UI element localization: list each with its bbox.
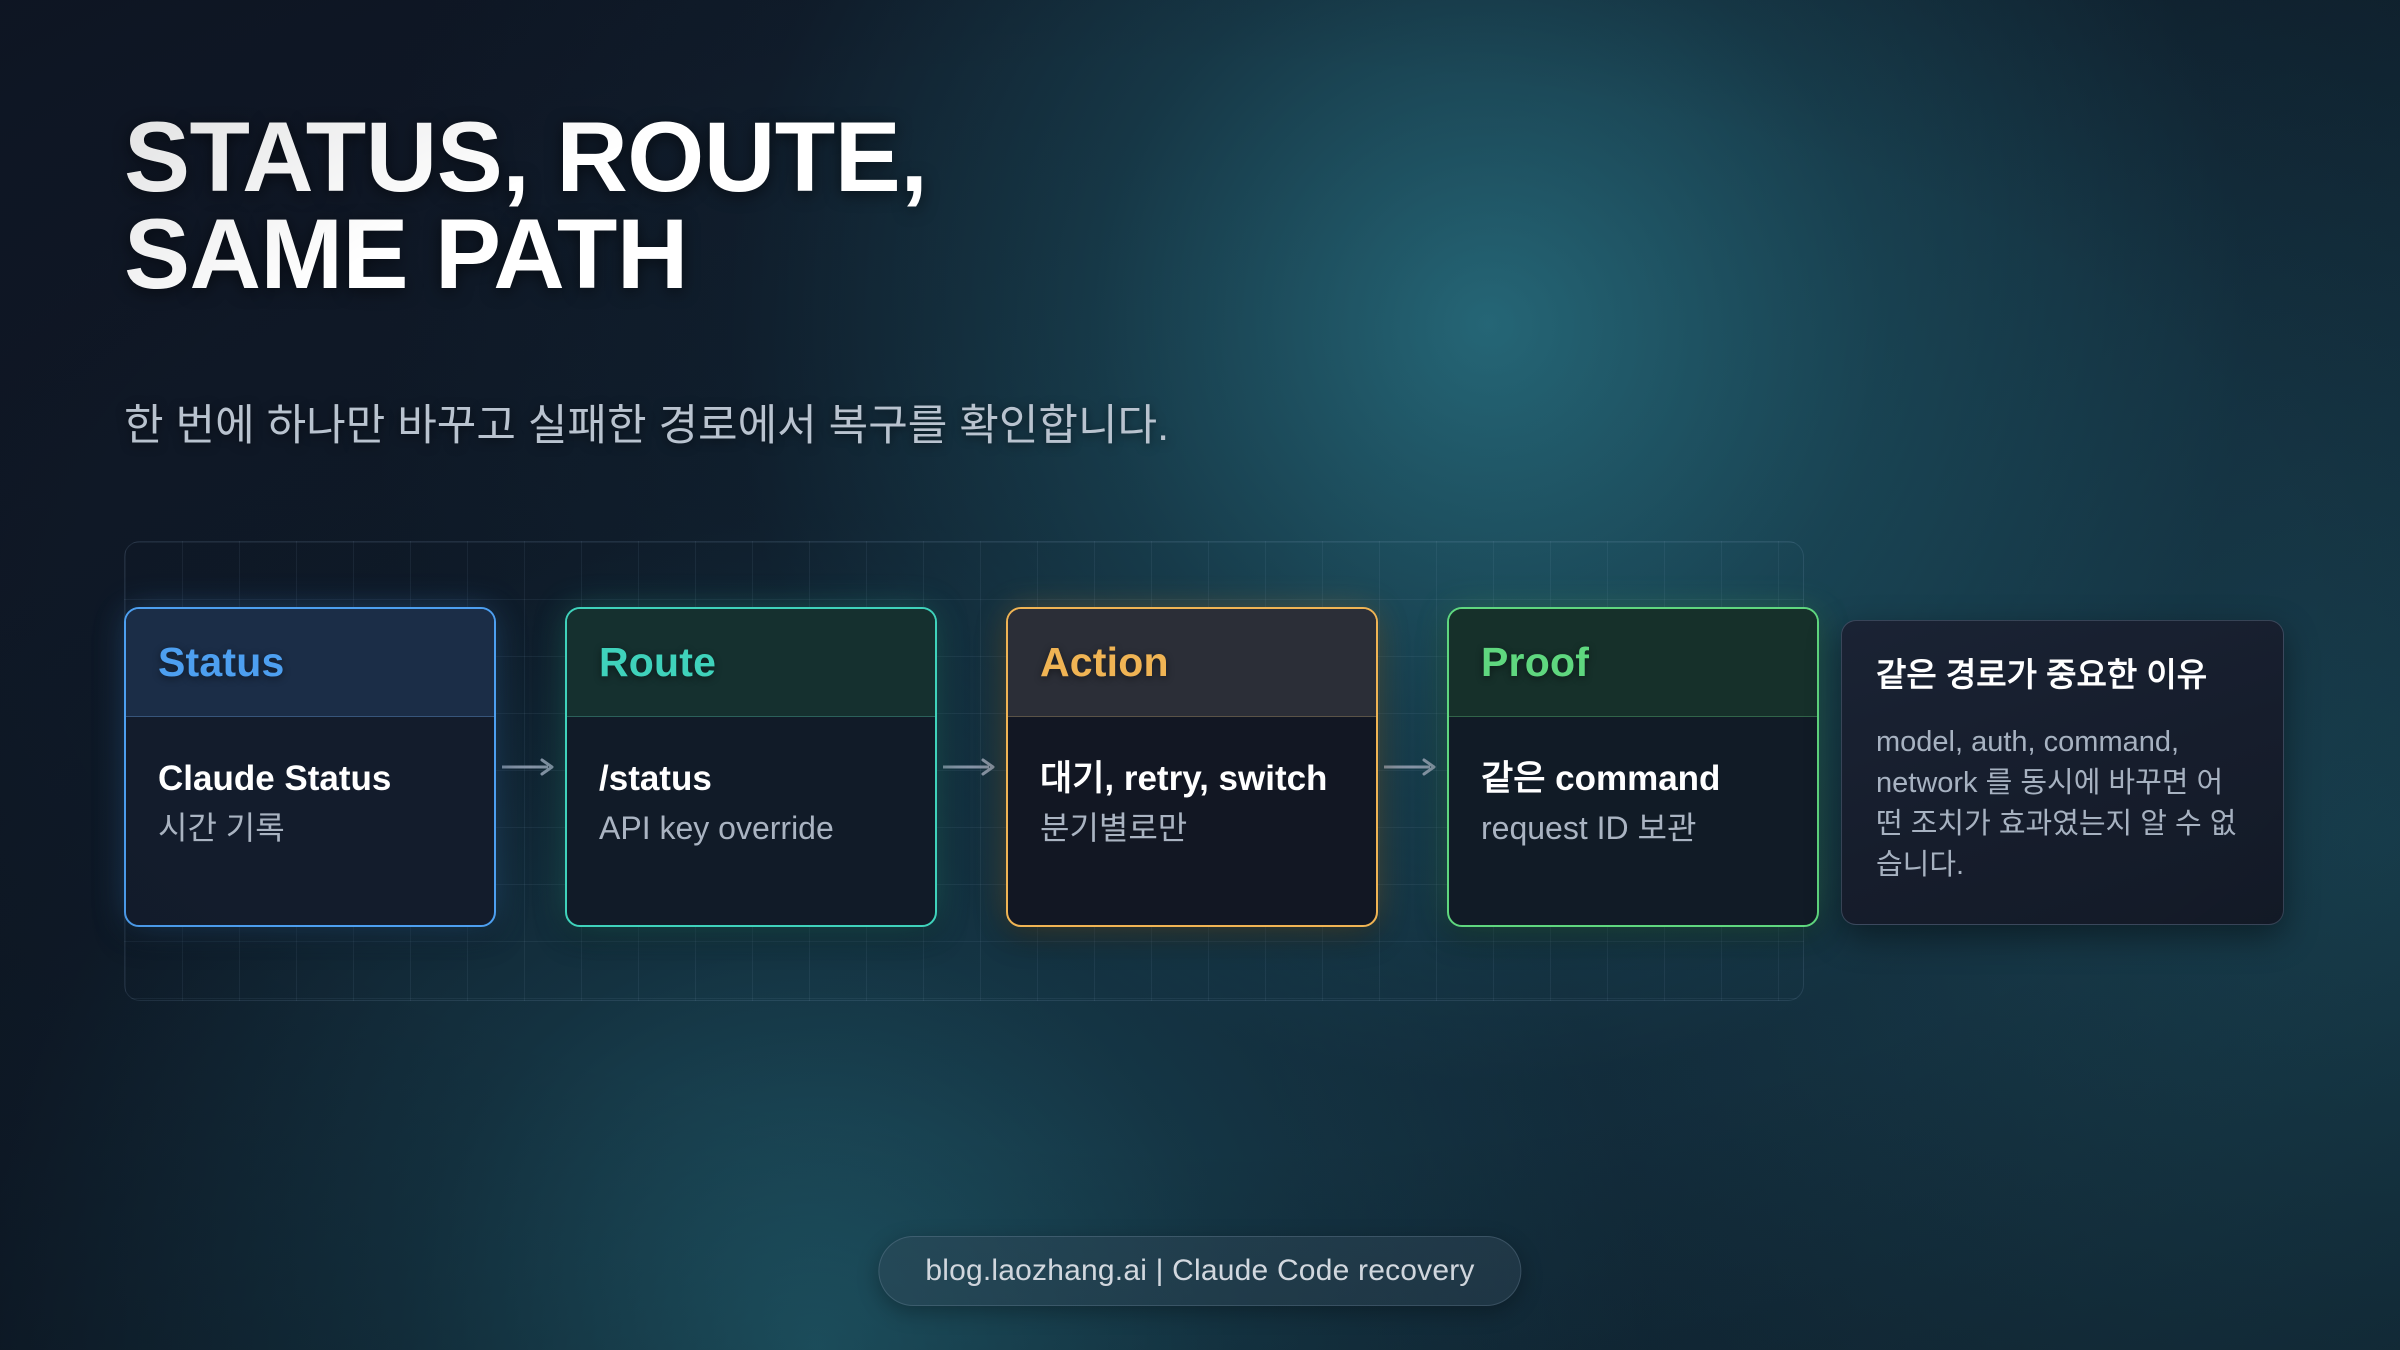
flow-card-header: Proof [1449, 609, 1817, 717]
page-title: STATUS, ROUTE, SAME PATH [124, 108, 1374, 302]
flow-card-title: Status [158, 639, 285, 686]
flow-card-body: /statusAPI key override [567, 717, 935, 848]
flow-card-secondary-text: request ID 보관 [1481, 810, 1787, 848]
arrow-right-icon [943, 756, 1001, 778]
flow-card-secondary-text: 분기별로만 [1040, 810, 1346, 848]
flow-card-primary-text: 같은 command [1481, 759, 1787, 799]
flow-card-body: 대기, retry, switch분기별로만 [1008, 717, 1376, 848]
flow-card-title: Route [599, 639, 716, 686]
flow-card-primary-text: 대기, retry, switch [1040, 759, 1346, 799]
flow-card-2[interactable]: Route/statusAPI key override [565, 607, 937, 927]
flow-card-header: Status [126, 609, 494, 717]
slide-canvas: STATUS, ROUTE, SAME PATH 한 번에 하나만 바꾸고 실패… [0, 0, 2400, 1350]
title-line-2: SAME PATH [124, 205, 1374, 302]
arrow-right-icon [1384, 756, 1442, 778]
flow-card-header: Route [567, 609, 935, 717]
arrow-right-icon [502, 756, 560, 778]
footer-label: blog.laozhang.ai | Claude Code recovery [925, 1254, 1474, 1287]
flow-card-primary-text: /status [599, 759, 905, 799]
page-subtitle: 한 번에 하나만 바꾸고 실패한 경로에서 복구를 확인합니다. [124, 400, 1169, 454]
flow-card-title: Action [1040, 639, 1169, 686]
flow-card-body: 같은 commandrequest ID 보관 [1449, 717, 1817, 848]
flow-card-1[interactable]: StatusClaude Status시간 기록 [124, 607, 496, 927]
footer-badge: blog.laozhang.ai | Claude Code recovery [878, 1236, 1521, 1306]
flow-card-secondary-text: API key override [599, 810, 905, 848]
flow-card-header: Action [1008, 609, 1376, 717]
side-note-title: 같은 경로가 중요한 이유 [1876, 655, 2249, 695]
flow-connector [1378, 607, 1447, 927]
flow-card-3[interactable]: Action대기, retry, switch분기별로만 [1006, 607, 1378, 927]
flow-card-secondary-text: 시간 기록 [158, 810, 464, 848]
flow-card-4[interactable]: Proof같은 commandrequest ID 보관 [1447, 607, 1819, 927]
flow-connector [496, 607, 565, 927]
flow-connector [937, 607, 1006, 927]
title-line-1: STATUS, ROUTE, [124, 108, 1374, 205]
flow-card-title: Proof [1481, 639, 1589, 686]
flow-card-primary-text: Claude Status [158, 759, 464, 799]
flow-card-body: Claude Status시간 기록 [126, 717, 494, 848]
side-note-panel: 같은 경로가 중요한 이유 model, auth, command, netw… [1841, 620, 2284, 925]
side-note-body: model, auth, command, network 를 동시에 바꾸면 … [1876, 722, 2249, 887]
